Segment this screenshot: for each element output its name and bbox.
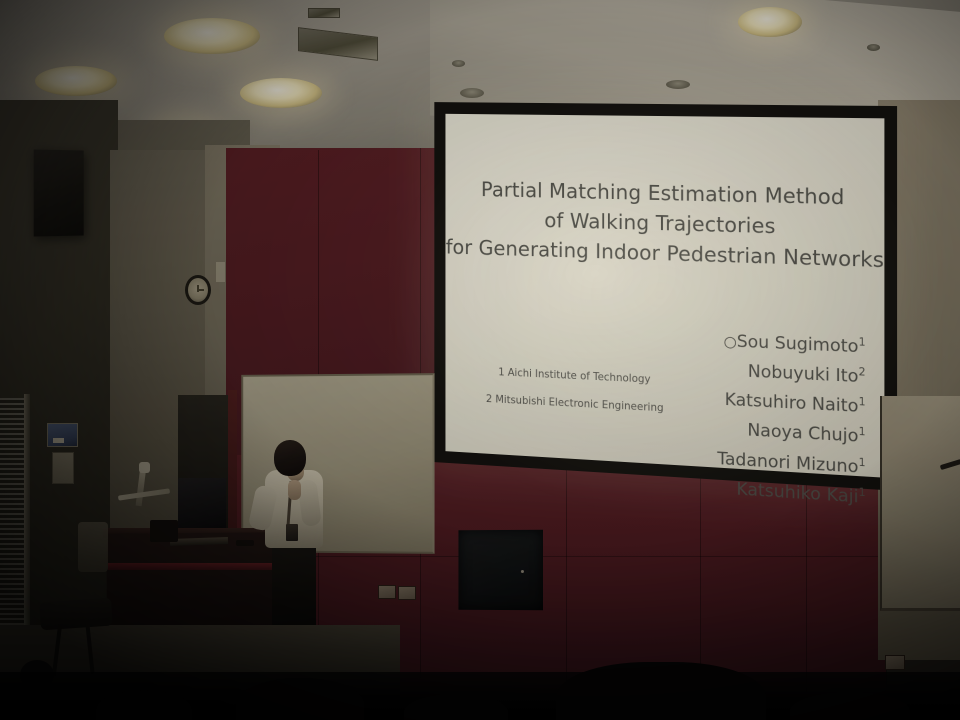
author-affiliation-ref: 1 (859, 456, 866, 469)
author-affiliation-ref: 1 (859, 426, 866, 439)
presenter-marker-icon: ○ (724, 332, 737, 351)
presenter-hand (288, 480, 301, 500)
clock-hand-minute (197, 289, 204, 291)
audience-head (556, 662, 766, 720)
podium-trim (108, 563, 280, 570)
microphone-head (139, 462, 150, 473)
wall-outlet-plate[interactable] (378, 585, 396, 599)
paper-notice (52, 452, 74, 484)
wall-outlet-plate[interactable] (885, 655, 905, 670)
podium-monitor (178, 478, 226, 530)
presenter-head (274, 440, 306, 476)
sprinkler-icon (460, 88, 484, 98)
slide-author-list: ○Sou Sugimoto1 Nobuyuki Ito2 Katsuhiro N… (717, 324, 865, 510)
slide-affiliations: 1 Aichi Institute of Technology 2 Mitsub… (472, 357, 679, 423)
author-name: Naoya Chujo (747, 421, 858, 448)
author-name: Katsuhiro Naito (725, 390, 859, 417)
wall-outlet-plate[interactable] (398, 586, 416, 600)
light-switch[interactable] (216, 262, 225, 282)
panel-seam (566, 460, 567, 690)
recess-indicator (521, 570, 524, 573)
whiteboard-right (880, 396, 960, 611)
hvac-vent-small (308, 8, 340, 18)
ceiling-light-5 (738, 7, 802, 37)
sprinkler-icon (666, 80, 690, 89)
wall-recess-panel (458, 530, 543, 610)
wall-clock (185, 275, 211, 305)
ceiling-light-1 (164, 18, 260, 54)
wall-speaker (34, 149, 84, 236)
presentation-slide: Partial Matching Estimation Method of Wa… (445, 114, 884, 478)
sprinkler-icon (452, 60, 465, 67)
desk-object (150, 520, 178, 542)
foreground-chair[interactable] (39, 598, 113, 631)
author-name: Nobuyuki Ito (748, 362, 859, 388)
side-chair[interactable] (78, 522, 108, 572)
ceiling-light-3 (240, 78, 322, 108)
author-affiliation-ref: 1 (859, 486, 866, 499)
slide-title: Partial Matching Estimation Method of Wa… (445, 174, 884, 275)
author-affiliation-ref: 2 (859, 366, 866, 379)
whiteboard-marker[interactable] (940, 459, 960, 470)
desk-object (236, 540, 254, 546)
lecture-room-photo: Partial Matching Estimation Method of Wa… (0, 0, 960, 720)
author-affiliation-ref: 1 (859, 336, 866, 349)
ceiling-light-2 (35, 66, 117, 96)
author-name: Sou Sugimoto (737, 332, 859, 358)
projection-screen: Partial Matching Estimation Method of Wa… (434, 102, 897, 491)
wall-sign-bar (53, 438, 64, 443)
author-name: Katsuhiko Kaji (736, 479, 858, 507)
author-affiliation-ref: 1 (859, 396, 866, 409)
presenter-badge (286, 524, 298, 541)
panel-seam-horizontal (226, 556, 886, 557)
wall-sign (47, 423, 78, 447)
projection-surface: Partial Matching Estimation Method of Wa… (445, 114, 884, 478)
sprinkler-icon (867, 44, 880, 51)
panel-seam (700, 462, 701, 692)
